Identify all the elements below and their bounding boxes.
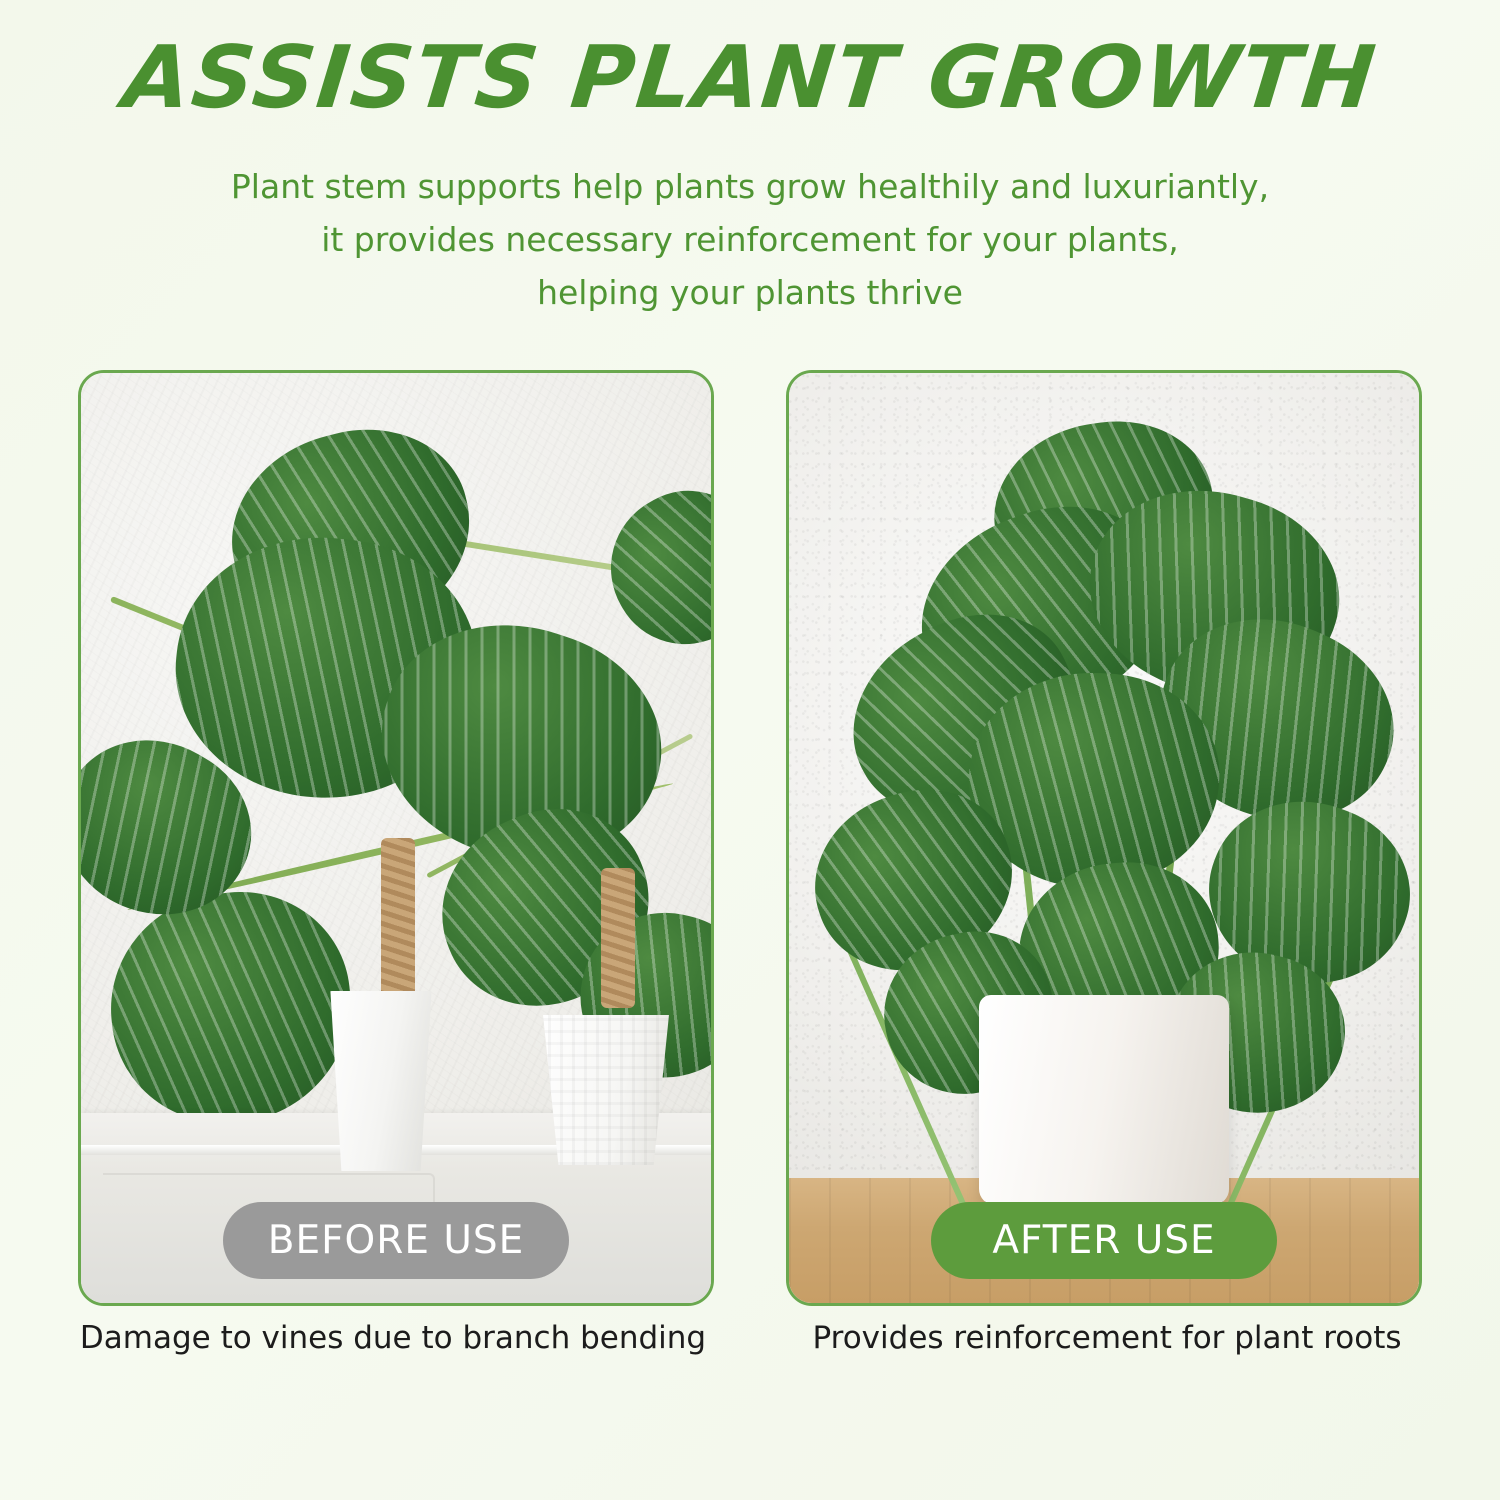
before-caption: Damage to vines due to branch bending	[78, 1320, 708, 1356]
before-photo	[81, 373, 711, 1303]
after-panel: AFTER USE	[786, 370, 1422, 1306]
promo-graphic: ASSISTS PLANT GROWTH Plant stem supports…	[0, 0, 1500, 1500]
after-caption: Provides reinforcement for plant roots	[792, 1320, 1422, 1356]
moss-pole	[601, 868, 635, 1008]
captions-row: Damage to vines due to branch bending Pr…	[78, 1320, 1422, 1356]
white-pot-plain	[326, 991, 436, 1171]
subheading-line-3: helping your plants thrive	[0, 266, 1500, 319]
white-pot-textured	[536, 1015, 676, 1165]
before-badge: BEFORE USE	[223, 1202, 569, 1279]
before-panel: BEFORE USE	[78, 370, 714, 1306]
page-title: ASSISTS PLANT GROWTH	[0, 28, 1500, 128]
moss-pole	[381, 838, 415, 1013]
subheading: Plant stem supports help plants grow hea…	[0, 160, 1500, 319]
white-planter	[979, 995, 1229, 1205]
subheading-line-1: Plant stem supports help plants grow hea…	[0, 160, 1500, 213]
after-photo	[789, 373, 1419, 1303]
subheading-line-2: it provides necessary reinforcement for …	[0, 213, 1500, 266]
comparison-panels: BEFORE USE	[78, 370, 1422, 1300]
after-badge: AFTER USE	[931, 1202, 1277, 1279]
